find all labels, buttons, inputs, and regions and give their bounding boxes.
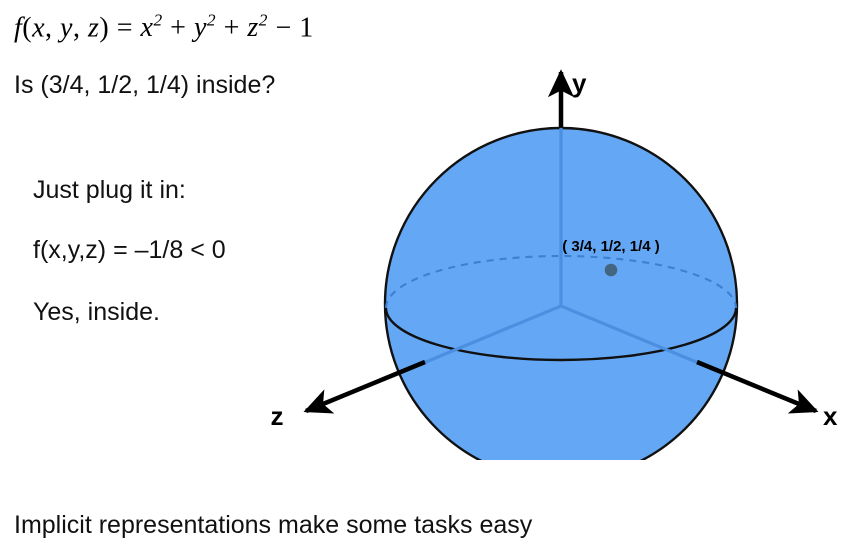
- body-line-just-plug-it-in: Just plug it in:: [33, 176, 186, 205]
- formula-plus-1: +: [163, 12, 194, 43]
- slide-canvas: f(x, y, z) = x2 + y2 + z2 − 1 Is (3/4, 1…: [0, 0, 848, 557]
- formula-var-x: x: [32, 12, 45, 43]
- formula-paren-close: ): [99, 12, 109, 43]
- formula-var-z: z: [88, 12, 99, 43]
- formula-comma-1: ,: [45, 12, 60, 43]
- formula-term-x2: x2: [141, 12, 163, 43]
- z-axis-label: z: [271, 401, 284, 431]
- formula-minus-one: − 1: [268, 12, 314, 43]
- body-line-conclusion: Yes, inside.: [33, 298, 160, 327]
- body-line-evaluation: f(x,y,z) = –1/8 < 0: [33, 236, 226, 265]
- formula-equals: =: [109, 12, 140, 43]
- question-line: Is (3/4, 1/2, 1/4) inside?: [14, 71, 275, 100]
- sample-point-marker: [605, 264, 618, 277]
- sample-point-label: ( 3/4, 1/2, 1/4 ): [562, 238, 660, 255]
- formula-comma-2: ,: [73, 12, 88, 43]
- formula-term-y2: y2: [194, 12, 216, 43]
- sphere-figure: y x z ( 3/4, 1/2, 1/4 ): [260, 40, 848, 460]
- formula-paren-open: (: [22, 12, 32, 43]
- formula-plus-2: +: [216, 12, 247, 43]
- y-axis-label: y: [572, 68, 587, 98]
- formula-var-y: y: [60, 12, 73, 43]
- slide-caption: Implicit representations make some tasks…: [14, 511, 532, 540]
- x-axis-label: x: [823, 401, 838, 431]
- formula-term-z2: z2: [247, 12, 268, 43]
